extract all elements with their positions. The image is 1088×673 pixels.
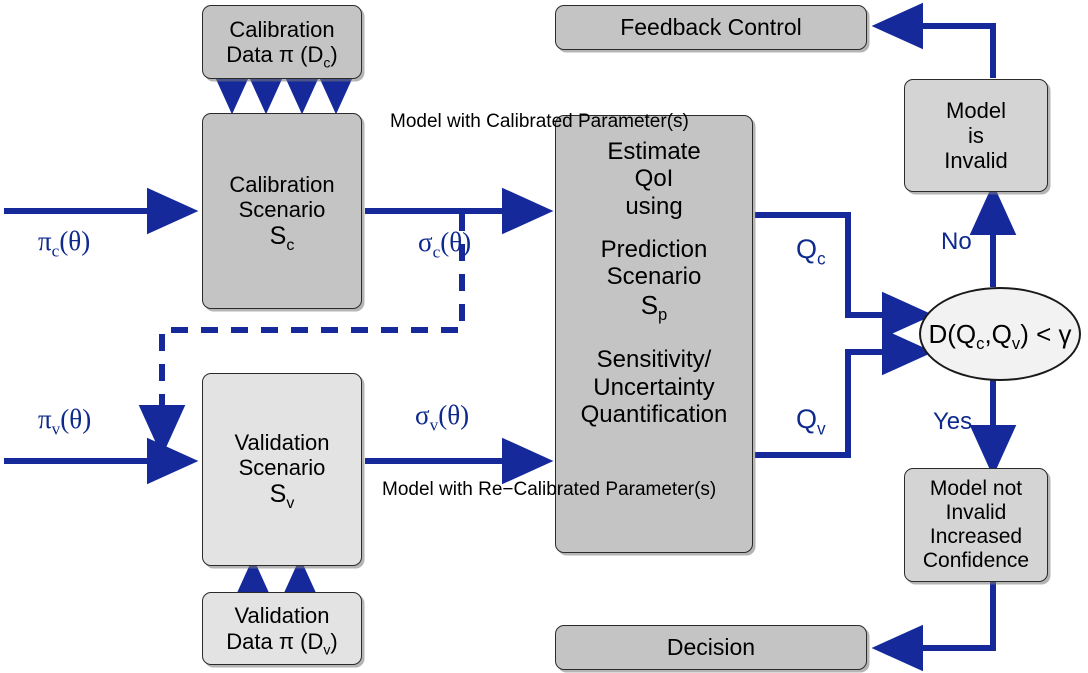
decision-node-expression: D(Qc,Qv) < γ (928, 319, 1071, 350)
box-validation-data: Validation Data π (Dv) (202, 592, 362, 665)
estimate-qoi-line9: Quantification (581, 401, 728, 428)
label-q-v: Qv (796, 404, 826, 435)
validation-scenario-line1: Validation (235, 430, 330, 455)
model-not-invalid-line2: Invalid (946, 501, 1007, 525)
calibration-scenario-line3: Sc (270, 222, 295, 251)
model-not-invalid-line1: Model not (930, 477, 1022, 501)
label-pi-c: πc(θ) (38, 226, 90, 257)
wire-decision (880, 582, 993, 648)
validation-data-line2: Data π (Dv) (226, 629, 337, 654)
label-model-with-calibrated: Model with Calibrated Parameter(s) (390, 108, 550, 136)
feedback-control-label: Feedback Control (620, 14, 802, 40)
estimate-qoi-line4: Prediction (601, 236, 708, 263)
label-branch-no: No (941, 228, 972, 256)
estimate-qoi-line1: Estimate (607, 138, 700, 165)
decision-node-ellipse: D(Qc,Qv) < γ (919, 287, 1081, 381)
estimate-qoi-line5: Scenario (607, 263, 702, 290)
validation-scenario-line3: Sv (270, 480, 295, 509)
box-validation-scenario: Validation Scenario Sv (202, 373, 362, 566)
calibration-scenario-line1: Calibration (229, 172, 334, 197)
box-model-is-invalid: Model is Invalid (904, 79, 1048, 192)
wire-qv (755, 352, 925, 455)
label-q-c: Qc (796, 234, 826, 265)
diagram-canvas: Calibration Data π (Dc) Calibration Scen… (0, 0, 1088, 673)
validation-data-line1: Validation (235, 603, 330, 628)
calibration-scenario-line2: Scenario (239, 197, 326, 222)
label-model-with-recalibrated: Model with Re−Calibrated Parameter(s) (382, 476, 558, 504)
wire-feedback (880, 26, 993, 78)
box-calibration-scenario: Calibration Scenario Sc (202, 113, 362, 309)
label-branch-yes: Yes (933, 408, 972, 436)
decision-label: Decision (667, 634, 755, 660)
calibration-data-line2: Data π (Dc) (226, 42, 337, 67)
label-sigma-c: σc(θ) (418, 227, 471, 258)
box-feedback-control: Feedback Control (555, 5, 867, 50)
model-is-invalid-line1: Model (946, 98, 1006, 123)
model-is-invalid-line2: is (968, 123, 984, 148)
box-model-not-invalid: Model not Invalid Increased Confidence (904, 468, 1048, 582)
estimate-qoi-line7: Sensitivity/ (597, 346, 712, 373)
box-decision: Decision (555, 625, 867, 670)
estimate-qoi-line6: Sp (641, 291, 668, 321)
model-not-invalid-line3: Increased (930, 525, 1022, 549)
label-pi-v: πv(θ) (38, 404, 91, 435)
wire-qc (755, 215, 925, 315)
validation-scenario-line2: Scenario (239, 455, 326, 480)
model-not-invalid-line4: Confidence (923, 549, 1029, 573)
estimate-qoi-line3: using (625, 193, 682, 220)
label-sigma-v: σv(θ) (415, 400, 469, 431)
calibration-data-line1: Calibration (229, 17, 334, 42)
estimate-qoi-line8: Uncertainty (593, 374, 714, 401)
box-calibration-data: Calibration Data π (Dc) (202, 5, 362, 79)
model-is-invalid-line3: Invalid (944, 148, 1008, 173)
estimate-qoi-line2: QoI (635, 165, 674, 192)
